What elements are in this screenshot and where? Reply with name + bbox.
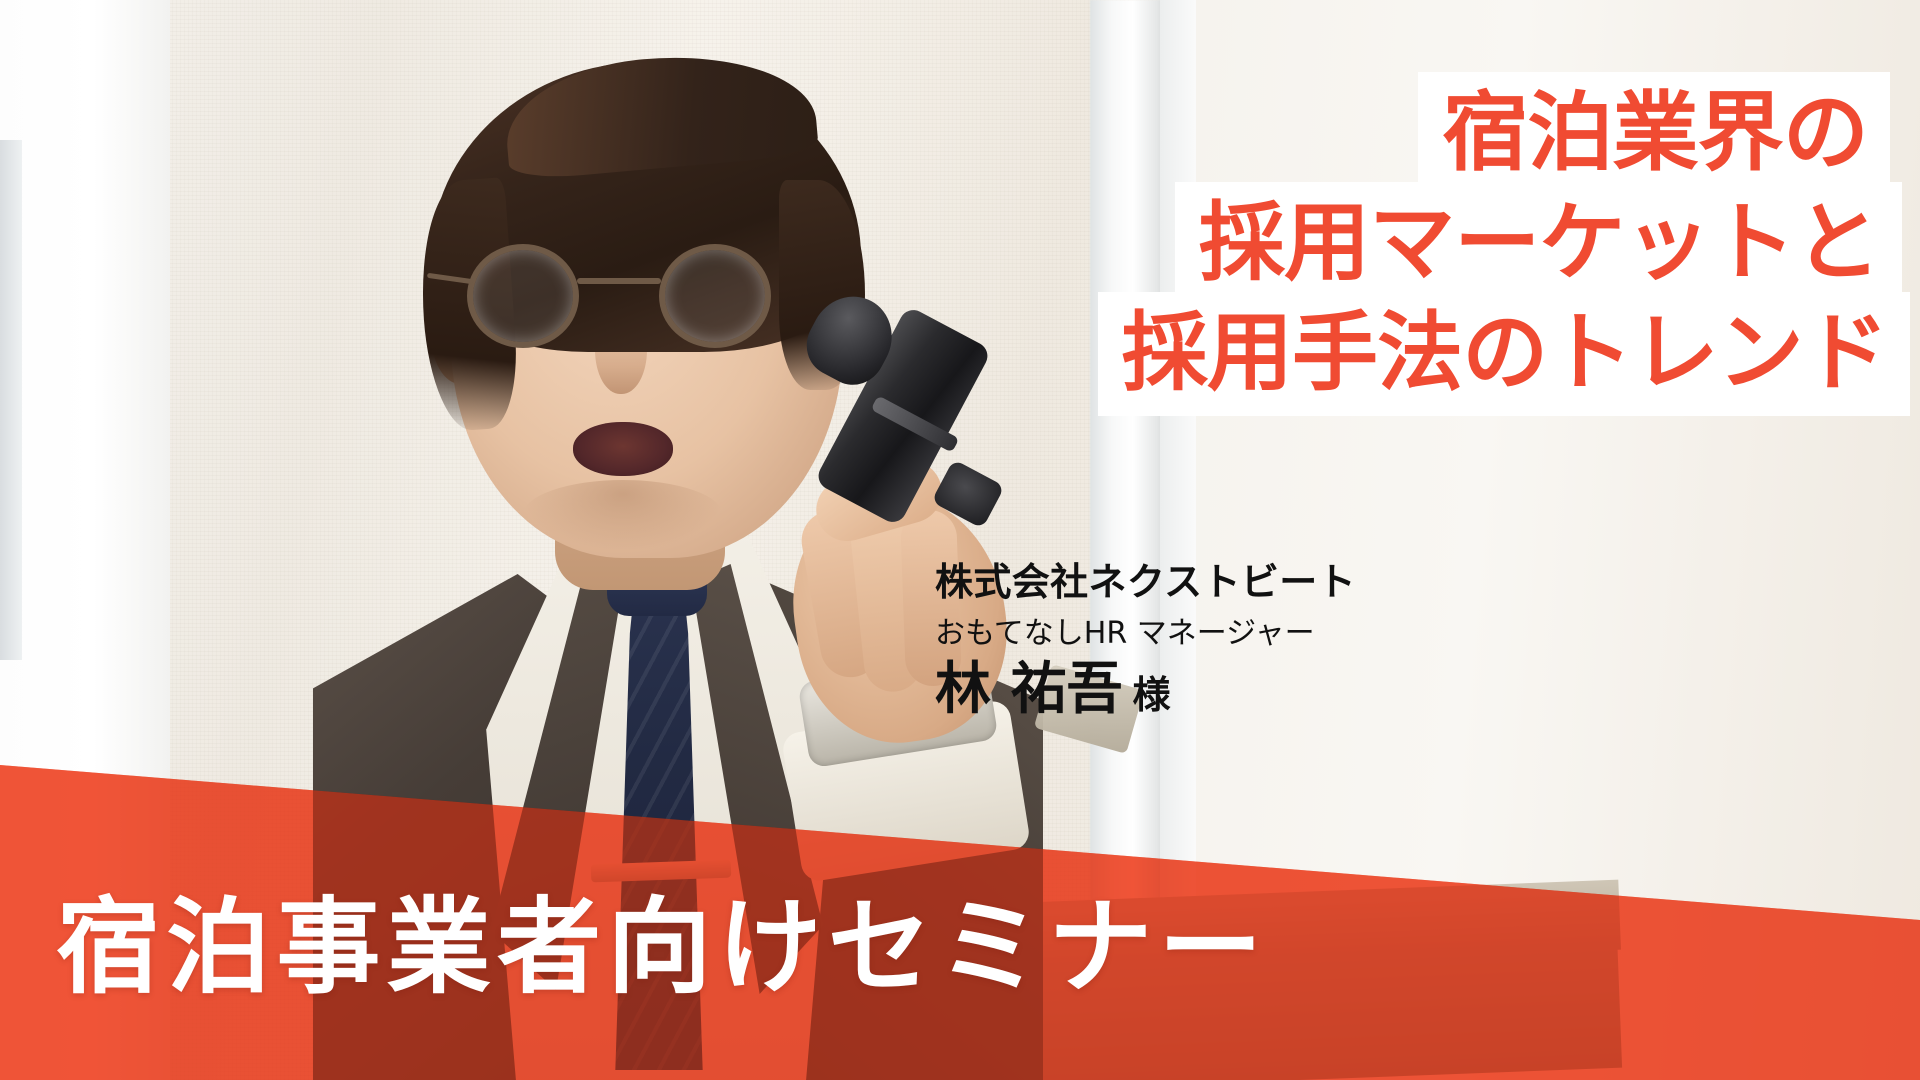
speaker-name: 林 祐吾様 <box>935 658 1495 722</box>
speaker-info: 株式会社ネクストビート おもてなしHR マネージャー 林 祐吾様 <box>935 560 1495 722</box>
title-line-2: 採用マーケットと <box>1175 182 1902 306</box>
speaker-name-text: 林 祐吾 <box>935 657 1123 722</box>
speaker-role: おもてなしHR マネージャー <box>935 616 1495 652</box>
speaker-honorific: 様 <box>1133 673 1171 717</box>
eyeglasses-lens-left <box>467 244 579 348</box>
chin-shadow <box>523 480 723 550</box>
title-line-1: 宿泊業界の <box>1418 72 1890 196</box>
mouth <box>573 422 673 476</box>
title-line-3: 採用手法のトレンド <box>1098 292 1910 416</box>
wall-left-edge <box>0 140 22 660</box>
seminar-banner: Kyoshitsu Lobby 0120-629-222 お問い合わせ/ご予約 <box>0 0 1920 1080</box>
eyeglasses-bridge <box>577 278 661 284</box>
bottom-band-label: 宿泊事業者向けセミナー <box>56 895 1269 999</box>
speaker-company: 株式会社ネクストビート <box>935 560 1495 606</box>
seminar-title: 宿泊業界の 採用マーケットと 採用手法のトレンド <box>720 0 1920 440</box>
